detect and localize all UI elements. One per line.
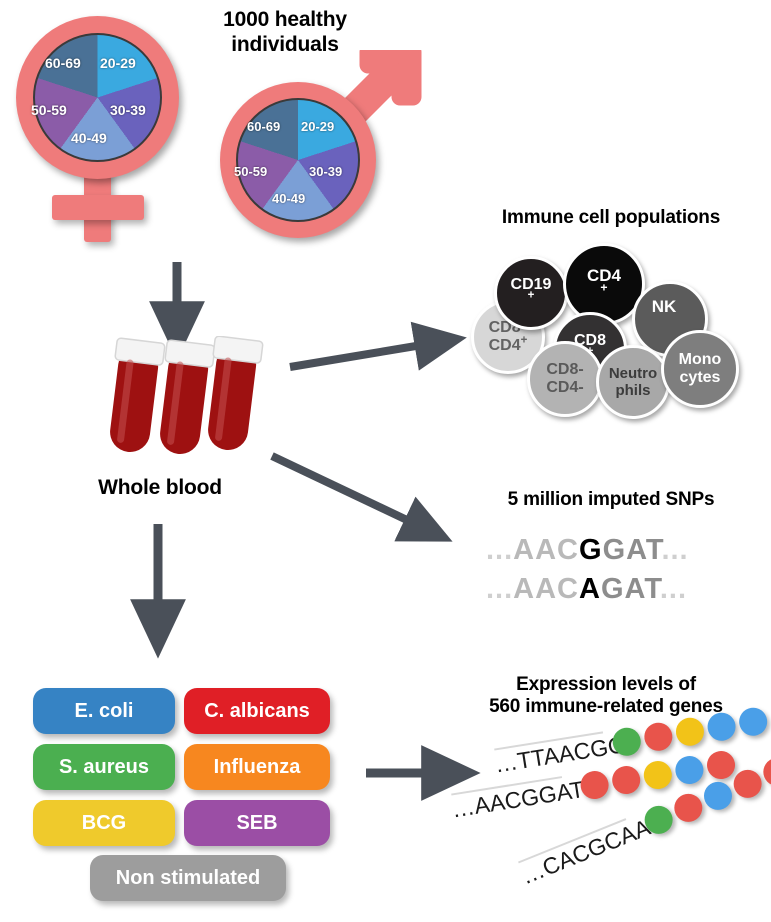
snp1-variant: G (579, 534, 603, 566)
immune-cell-neutrophils: Neutro phils (596, 345, 670, 419)
cd8n-line2: CD4- (546, 379, 583, 397)
snp2-prefix-dots: ... (486, 573, 513, 605)
neutro-line2: phils (609, 382, 657, 399)
snps-heading: 5 million imputed SNPs (451, 489, 771, 511)
snp1-prefix-dots: ... (486, 534, 513, 566)
stimulus-seb[interactable]: SEB (184, 800, 330, 846)
mono-line2: cytes (679, 369, 722, 387)
snp1-suffix-dots: ... (661, 534, 688, 566)
snp-sequence-row-1: ...AACGGAT... (486, 534, 689, 567)
nk-label: NK (652, 298, 677, 315)
stimulus-influenza[interactable]: Influenza (184, 744, 330, 790)
immune-cell-cd8n-cd4n: CD8- CD4- (527, 341, 603, 417)
figure-canvas: 20-29 30-39 40-49 50-59 60-69 1000 healt… (0, 0, 771, 922)
stimulus-non-stimulated[interactable]: Non stimulated (90, 855, 286, 901)
cd19-sup: + (528, 290, 535, 302)
snp1-pre: AAC (513, 534, 579, 566)
snp2-suffix-dots: ... (660, 573, 687, 605)
neutro-line1: Neutro (609, 365, 657, 382)
snp2-pre: AAC (513, 573, 579, 605)
snp-sequence-row-2: ...AACAGAT... (486, 573, 687, 606)
snp1-post: GAT (603, 534, 662, 566)
stimulus-c-albicans[interactable]: C. albicans (184, 688, 330, 734)
immune-cell-monocytes: Mono cytes (661, 330, 739, 408)
cd4-sup: + (600, 280, 607, 294)
stimulus-s-aureus[interactable]: S. aureus (33, 744, 175, 790)
snp2-variant: A (579, 573, 601, 605)
cd8n-line1: CD8- (546, 361, 583, 379)
snp2-post: GAT (601, 573, 660, 605)
immune-cell-cd19: CD19+ (494, 256, 568, 330)
stimulus-bcg[interactable]: BCG (33, 800, 175, 846)
mono-line1: Mono (679, 351, 722, 369)
stimulus-e-coli[interactable]: E. coli (33, 688, 175, 734)
expression-heading-line1: Expression levels of (441, 674, 771, 696)
